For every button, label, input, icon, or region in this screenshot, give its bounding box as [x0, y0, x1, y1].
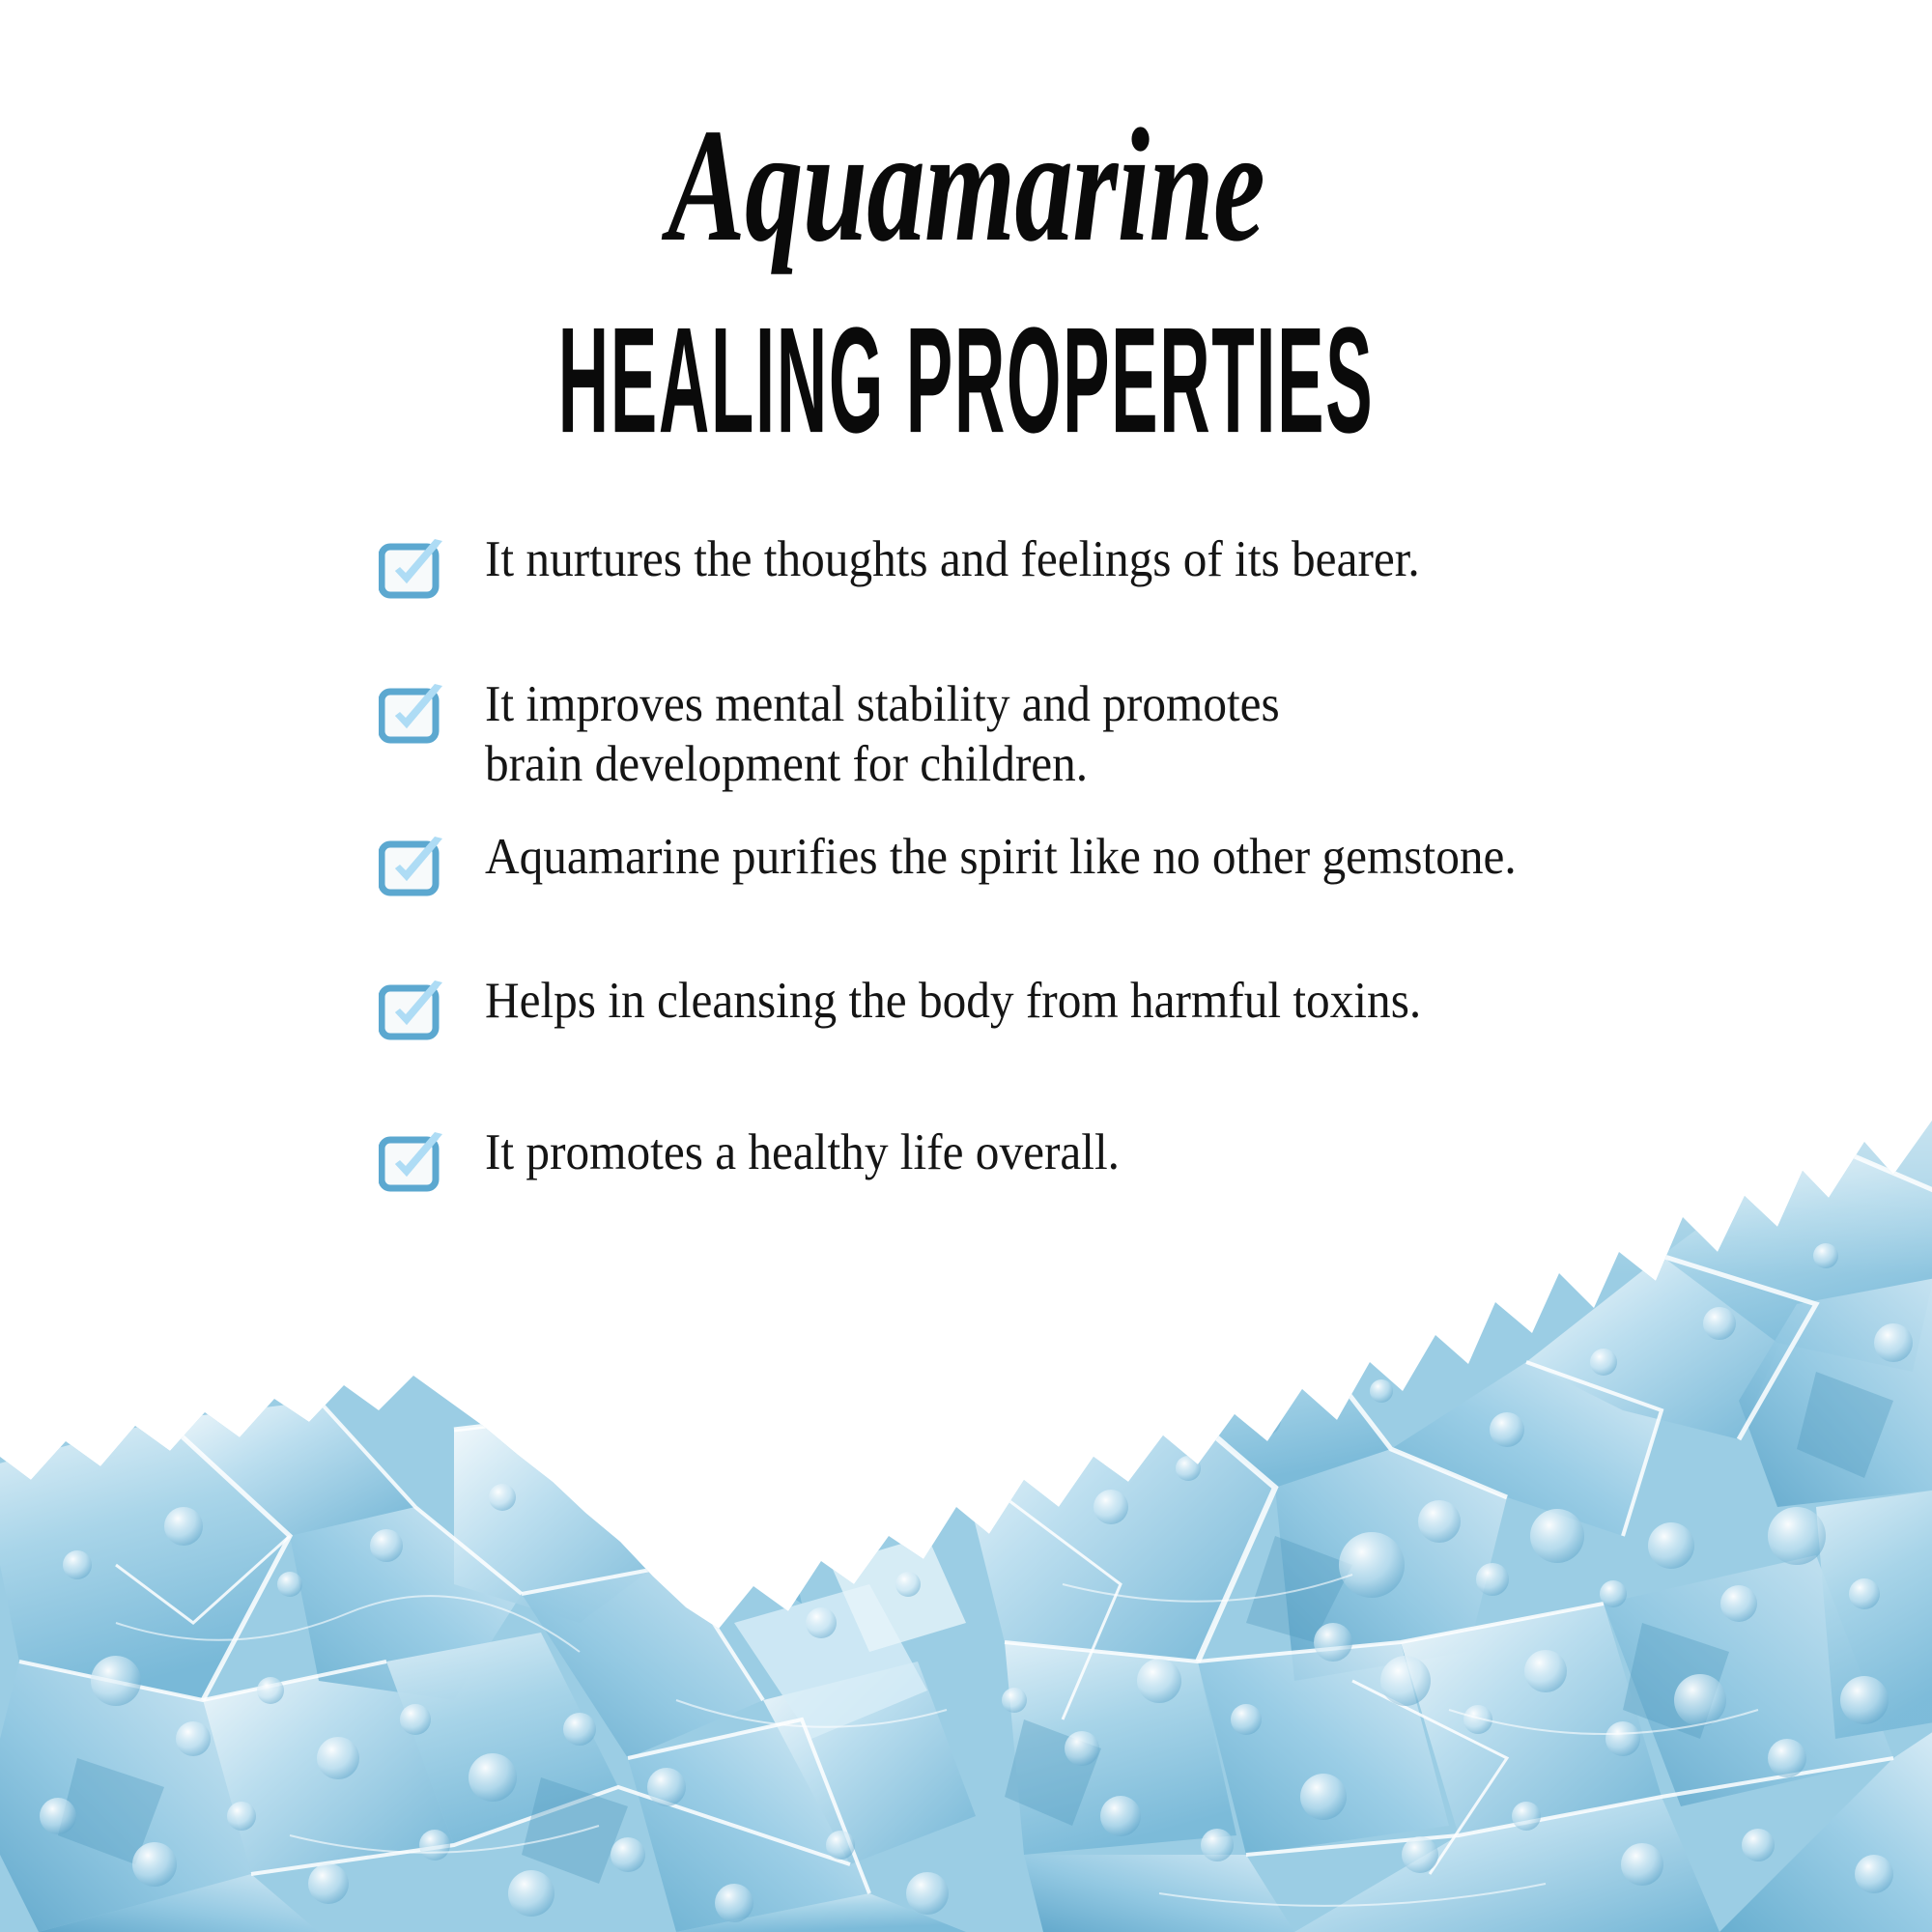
ice-cubes-photo [0, 1082, 1932, 1932]
list-item: Aquamarine purifies the spirit like no o… [379, 827, 1847, 887]
list-item: It nurtures the thoughts and feelings of… [379, 529, 1847, 589]
header: Aquamarine HEALING PROPERTIES [0, 0, 1932, 427]
list-item: Helps in cleansing the body from harmful… [379, 971, 1847, 1031]
poster-canvas: Aquamarine HEALING PROPERTIES It nurture… [0, 0, 1932, 1932]
checkbox-checked-icon [379, 980, 448, 1041]
checkbox-checked-icon [379, 683, 448, 745]
list-item-text: It improves mental stability and promote… [485, 674, 1751, 794]
list-item-text: It nurtures the thoughts and feelings of… [485, 529, 1751, 589]
list-item-text: Helps in cleansing the body from harmful… [485, 971, 1751, 1031]
list-item-text: Aquamarine purifies the spirit like no o… [485, 827, 1751, 887]
checkbox-checked-icon [379, 836, 448, 897]
page-subtitle: HEALING PROPERTIES [435, 267, 1497, 456]
checkbox-checked-icon [379, 538, 448, 600]
list-item: It improves mental stability and promote… [379, 674, 1847, 794]
page-title: Aquamarine [270, 0, 1662, 267]
